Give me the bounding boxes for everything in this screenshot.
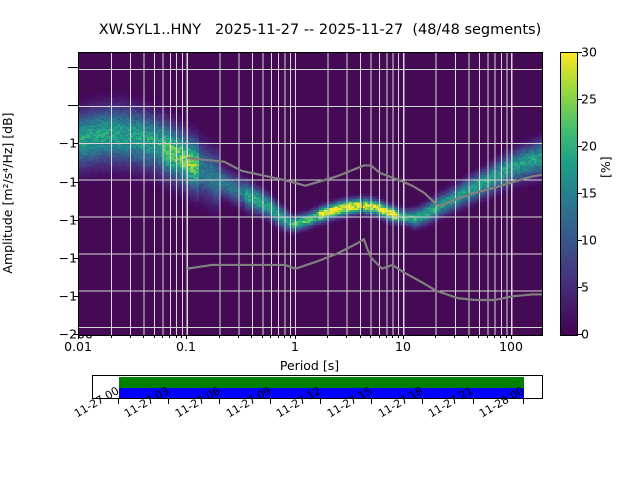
colorbar-tick-mark xyxy=(577,146,582,147)
x-minor-tick xyxy=(270,335,271,338)
x-minor-tick xyxy=(386,335,387,338)
x-minor-tick xyxy=(219,335,220,338)
x-minor-tick xyxy=(379,335,380,338)
x-minor-tick xyxy=(251,335,252,338)
colorbar[interactable] xyxy=(560,52,578,336)
x-minor-tick xyxy=(500,335,501,338)
x-minor-tick xyxy=(435,335,436,338)
x-tick-mark xyxy=(78,335,79,339)
x-minor-tick xyxy=(111,335,112,338)
x-minor-tick xyxy=(506,335,507,338)
x-minor-tick xyxy=(143,335,144,338)
x-minor-tick xyxy=(478,335,479,338)
timeline-tick-mark xyxy=(168,399,169,404)
x-minor-tick xyxy=(238,335,239,338)
x-minor-tick xyxy=(262,335,263,338)
timeline-tick-mark xyxy=(473,399,474,404)
x-tick-label: 1 xyxy=(291,339,299,354)
x-minor-tick xyxy=(162,335,163,338)
x-minor-tick xyxy=(290,335,291,338)
timeline-tick-mark xyxy=(523,399,524,404)
x-minor-tick xyxy=(278,335,279,338)
x-minor-tick xyxy=(346,335,347,338)
x-tick-mark xyxy=(186,335,187,339)
x-minor-tick xyxy=(327,335,328,338)
colorbar-tick-label: 0 xyxy=(581,327,589,342)
x-minor-tick xyxy=(130,335,131,338)
colorbar-tick-mark xyxy=(577,193,582,194)
x-minor-tick xyxy=(176,335,177,338)
x-minor-tick xyxy=(154,335,155,338)
timeline-tick-mark xyxy=(371,399,372,404)
ppsd-canvas xyxy=(79,53,542,335)
colorbar-tick-mark xyxy=(577,52,582,53)
colorbar-tick-label: 20 xyxy=(581,139,597,154)
colorbar-tick-mark xyxy=(577,334,582,335)
ppsd-figure: XW.SYL1..HNY 2025-11-27 -- 2025-11-27 (4… xyxy=(0,0,640,480)
x-minor-tick xyxy=(360,335,361,338)
colorbar-tick-label: 30 xyxy=(581,45,597,60)
x-minor-tick xyxy=(487,335,488,338)
x-minor-tick xyxy=(370,335,371,338)
x-minor-tick xyxy=(284,335,285,338)
x-minor-tick xyxy=(494,335,495,338)
colorbar-tick-mark xyxy=(577,287,582,288)
colorbar-tick-mark xyxy=(577,99,582,100)
timeline-tick-mark xyxy=(219,399,220,404)
x-minor-tick xyxy=(454,335,455,338)
timeline-tick-mark xyxy=(422,399,423,404)
colorbar-tick-mark xyxy=(577,240,582,241)
x-tick-label: 100 xyxy=(499,339,523,354)
x-minor-tick xyxy=(181,335,182,338)
x-minor-tick xyxy=(392,335,393,338)
colorbar-tick-label: 10 xyxy=(581,233,597,248)
x-axis-label: Period [s] xyxy=(78,358,541,373)
ppsd-plot-area[interactable] xyxy=(78,52,543,336)
x-tick-label: 0.1 xyxy=(176,339,196,354)
x-minor-tick xyxy=(398,335,399,338)
timeline-tick-mark xyxy=(270,399,271,404)
timeline-tick-mark xyxy=(320,399,321,404)
timeline-tick-mark xyxy=(118,399,119,404)
x-tick-mark xyxy=(403,335,404,339)
x-tick-label: 0.01 xyxy=(64,339,92,354)
x-minor-tick xyxy=(468,335,469,338)
x-tick-label: 10 xyxy=(395,339,411,354)
y-axis-label: Amplitude [m²/s⁴/Hz] [dB] xyxy=(0,52,20,334)
x-tick-mark xyxy=(511,335,512,339)
colorbar-tick-label: 15 xyxy=(581,186,597,201)
colorbar-unit-label: [%] xyxy=(598,156,613,178)
colorbar-tick-label: 5 xyxy=(581,280,589,295)
page-title: XW.SYL1..HNY 2025-11-27 -- 2025-11-27 (4… xyxy=(0,22,640,38)
x-tick-mark xyxy=(295,335,296,339)
colorbar-tick-label: 25 xyxy=(581,92,597,107)
x-minor-tick xyxy=(169,335,170,338)
